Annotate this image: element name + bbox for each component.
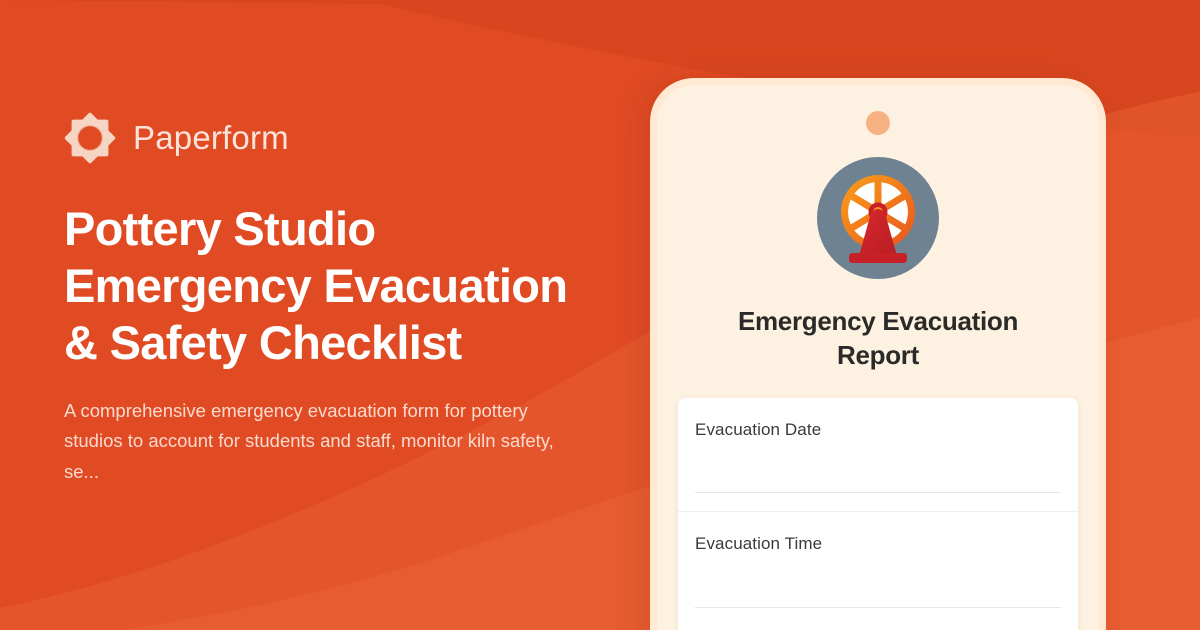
camera-dot-icon: [866, 111, 890, 135]
field-label: Evacuation Date: [695, 420, 1061, 440]
field-evacuation-time[interactable]: Evacuation Time: [678, 512, 1078, 626]
paperform-logo-icon: [64, 112, 116, 164]
brand-name: Paperform: [133, 119, 289, 157]
form-title: Emergency Evacuation Report: [698, 305, 1058, 373]
field-evacuation-date[interactable]: Evacuation Date: [678, 398, 1078, 512]
share-card: Paperform Pottery Studio Emergency Evacu…: [0, 0, 1200, 630]
field-label: Evacuation Time: [695, 534, 1061, 554]
form-card: Evacuation Date Evacuation Time: [678, 398, 1078, 630]
field-input-underline[interactable]: [695, 607, 1061, 608]
field-input-underline[interactable]: [695, 492, 1061, 493]
phone-mockup: Emergency Evacuation Report Evacuation D…: [650, 78, 1106, 630]
brand-lockup: Paperform: [64, 108, 624, 168]
phone-screen: Emergency Evacuation Report Evacuation D…: [657, 85, 1099, 630]
page-description: A comprehensive emergency evacuation for…: [64, 396, 574, 489]
pottery-wheel-icon: [817, 135, 939, 279]
hero-content: Paperform Pottery Studio Emergency Evacu…: [64, 108, 624, 488]
page-title: Pottery Studio Emergency Evacuation & Sa…: [64, 201, 584, 372]
